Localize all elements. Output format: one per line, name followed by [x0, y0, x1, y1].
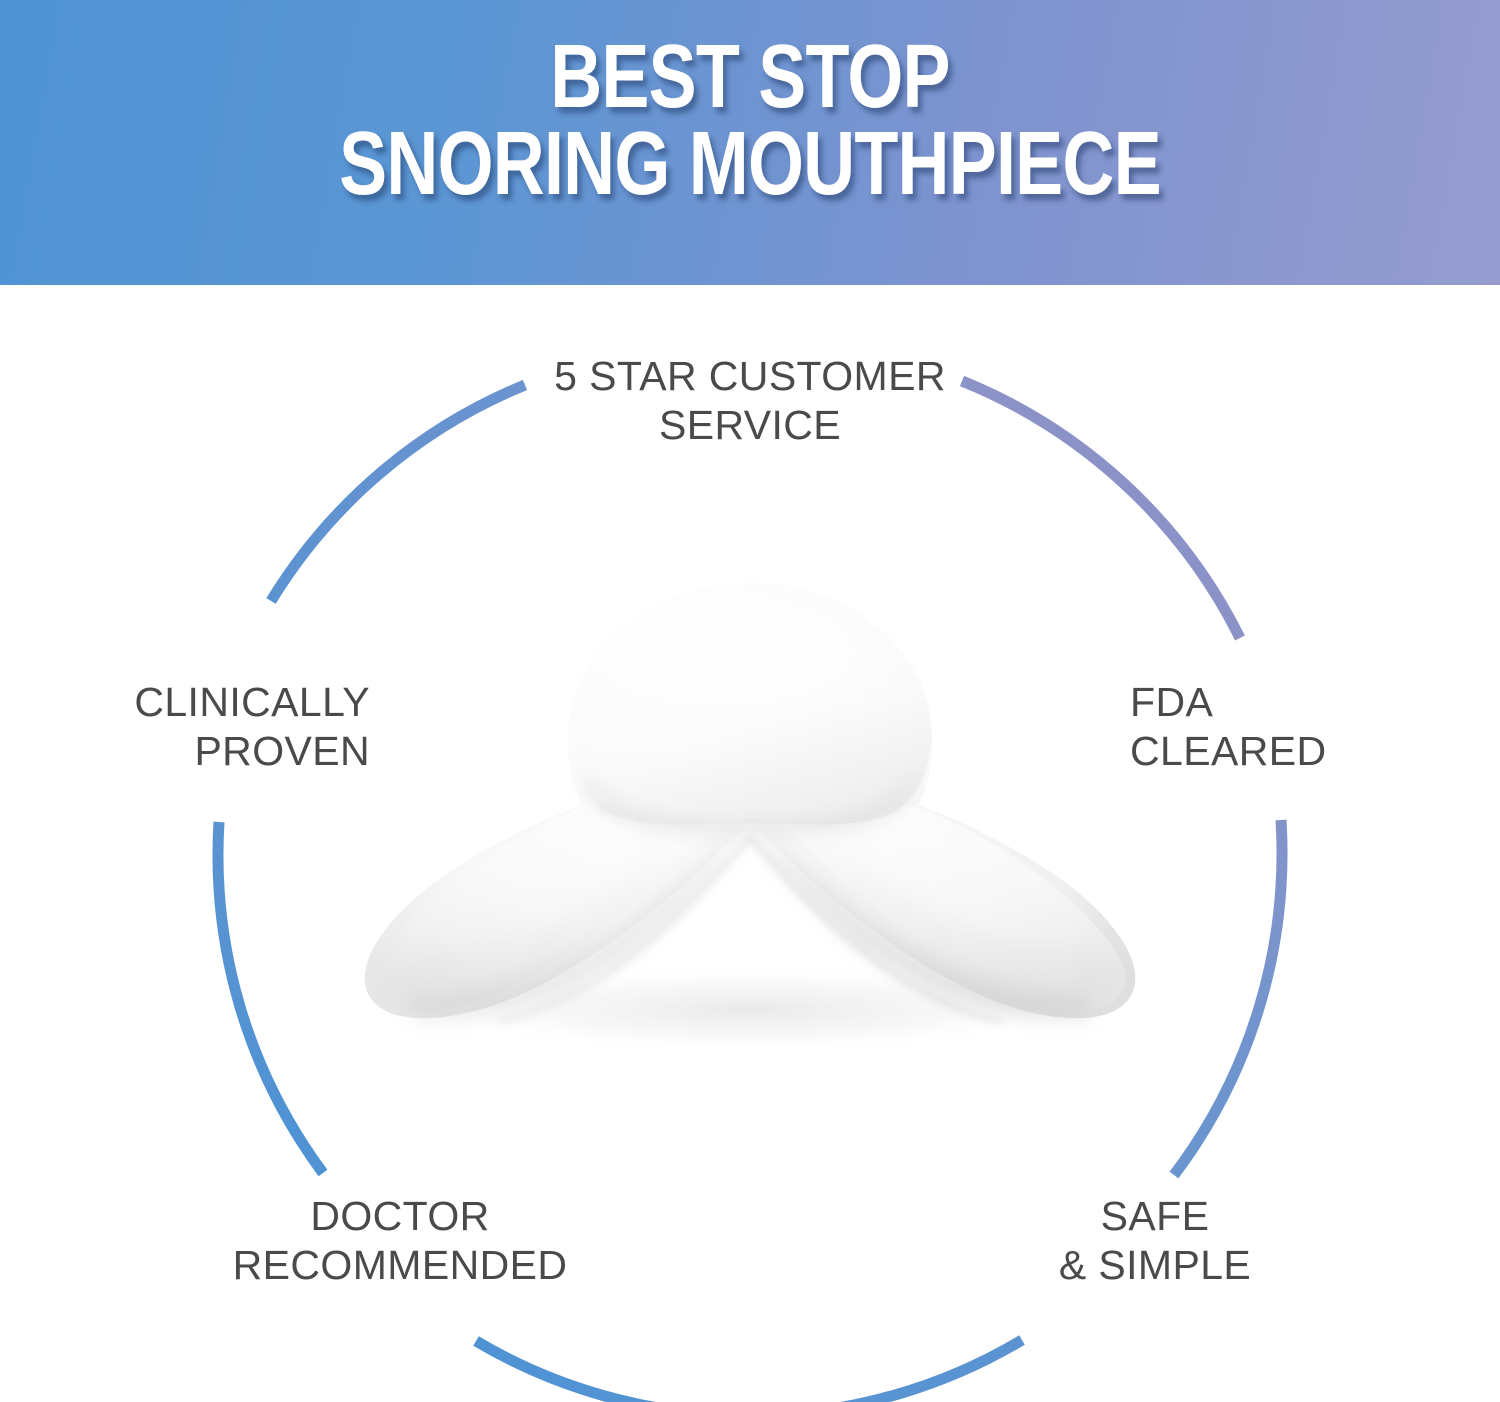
body-vignette	[365, 583, 1136, 1018]
infographic-page: BEST STOP SNORING MOUTHPIECE	[0, 0, 1500, 1402]
feature-label-doctor-recommended: DOCTOR RECOMMENDED	[200, 1192, 600, 1290]
page-title: BEST STOP SNORING MOUTHPIECE	[150, 34, 1350, 209]
header-banner: BEST STOP SNORING MOUTHPIECE	[0, 0, 1500, 285]
feature-label-safe-simple: SAFE & SIMPLE	[1010, 1192, 1300, 1290]
title-line-2: SNORING MOUTHPIECE	[150, 121, 1350, 208]
feature-label-fda-cleared: FDA CLEARED	[1130, 678, 1440, 776]
arc-left	[218, 822, 323, 1173]
feature-label-customer-service: 5 STAR CUSTOMER SERVICE	[480, 352, 1020, 450]
feature-label-clinically-proven: CLINICALLY PROVEN	[60, 678, 370, 776]
arc-right	[1174, 820, 1282, 1175]
product-image	[330, 555, 1170, 1075]
mouthpiece-body	[365, 581, 1136, 1030]
arc-bottom	[476, 1340, 1022, 1402]
title-line-1: BEST STOP	[150, 34, 1350, 121]
